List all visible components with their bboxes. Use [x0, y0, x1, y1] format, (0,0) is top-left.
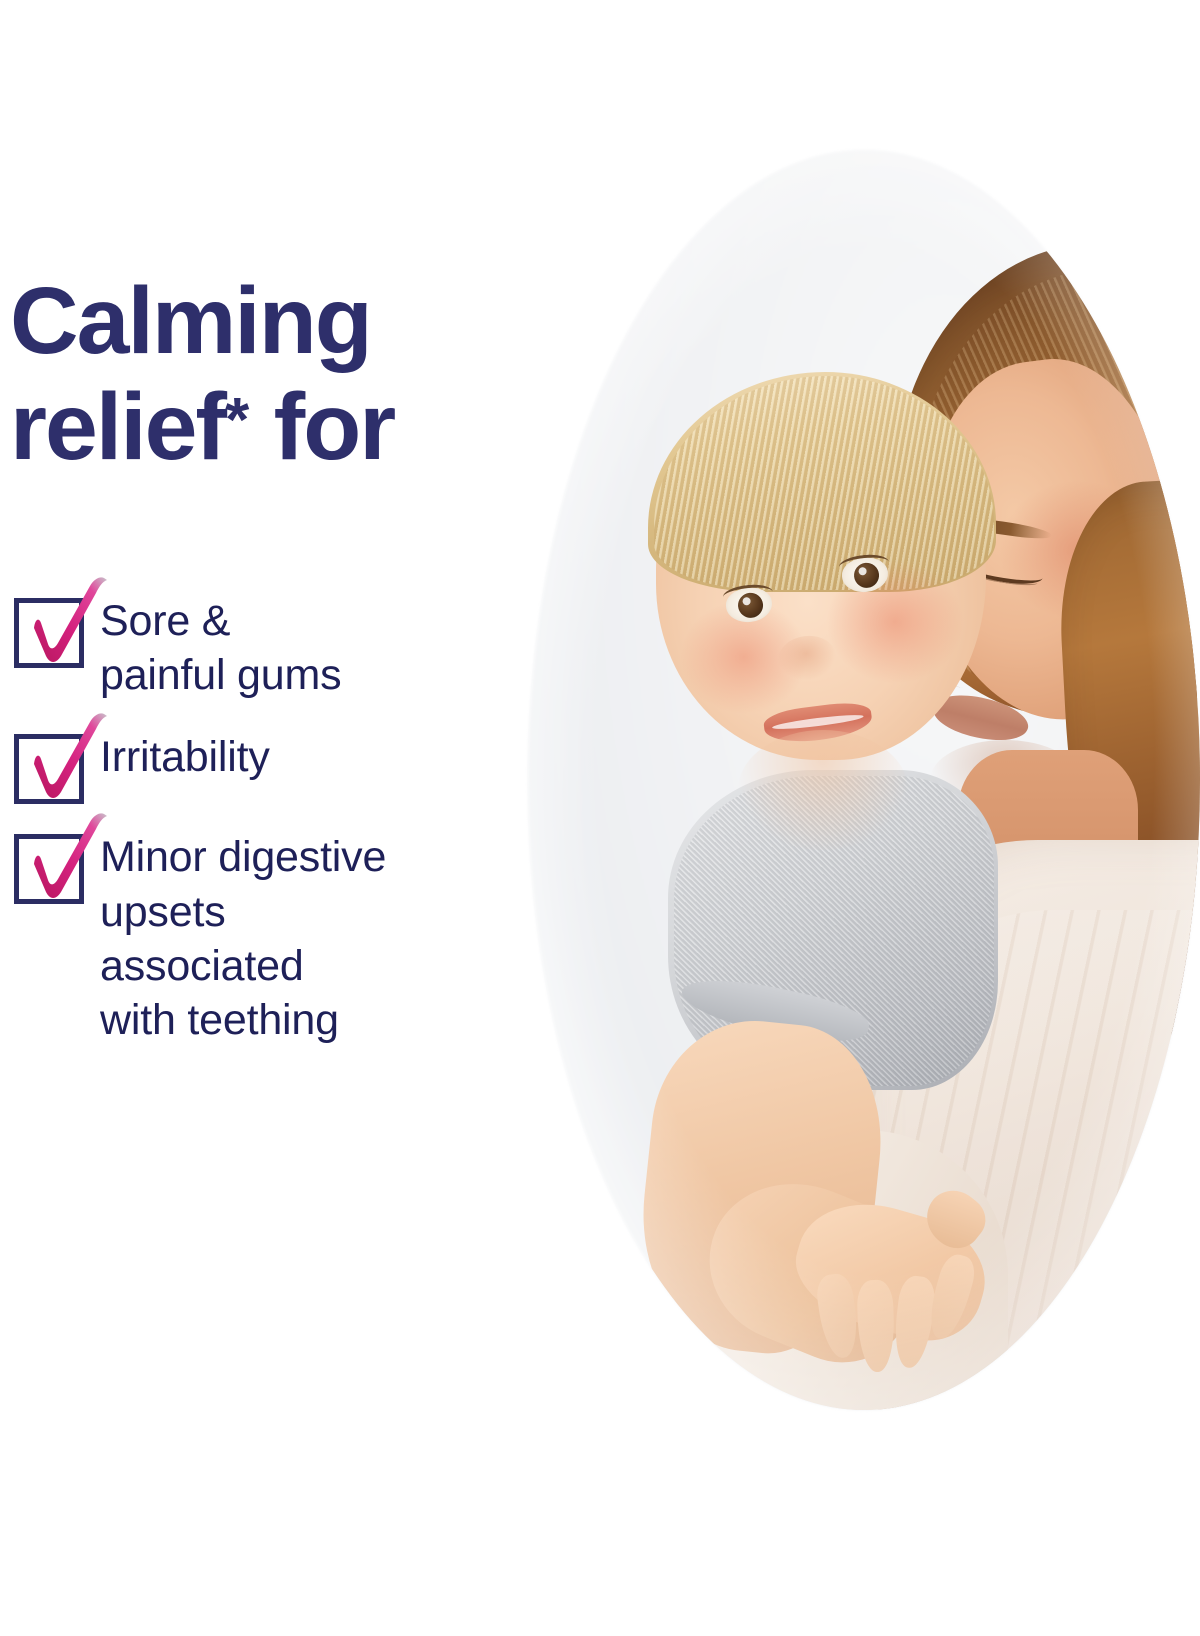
headline-line-1: Calming [10, 268, 371, 374]
check-mark-icon [8, 564, 116, 672]
check-mark-icon [8, 700, 116, 808]
list-item-label: Minor digestive upsets associated with t… [100, 828, 386, 1047]
hero-photo [520, 120, 1200, 1430]
asterisk-marker: * [225, 386, 249, 455]
benefit-list: Sore & painful gums Irritability [0, 592, 560, 1073]
list-item-label: Irritability [100, 728, 270, 784]
list-item: Sore & painful gums [0, 592, 560, 702]
checkbox-checked-icon[interactable] [14, 834, 82, 902]
list-item: Minor digestive upsets associated with t… [0, 828, 560, 1047]
photo-clip [528, 150, 1200, 1410]
mother-and-baby-illustration [528, 150, 1200, 1410]
headline-line-2-after-star: for [249, 374, 394, 480]
checkbox-checked-icon[interactable] [14, 734, 82, 802]
baby-chin [738, 730, 908, 850]
page-title: Calmingrelief* for [10, 268, 550, 481]
text-column: Calmingrelief* for [0, 0, 560, 1636]
list-item: Irritability [0, 728, 560, 802]
promo-banner: Calmingrelief* for [0, 0, 1200, 1636]
checkbox-checked-icon[interactable] [14, 598, 82, 666]
list-item-label: Sore & painful gums [100, 592, 341, 702]
check-mark-icon [8, 800, 116, 908]
headline-line-2-before-star: relief [10, 374, 225, 480]
